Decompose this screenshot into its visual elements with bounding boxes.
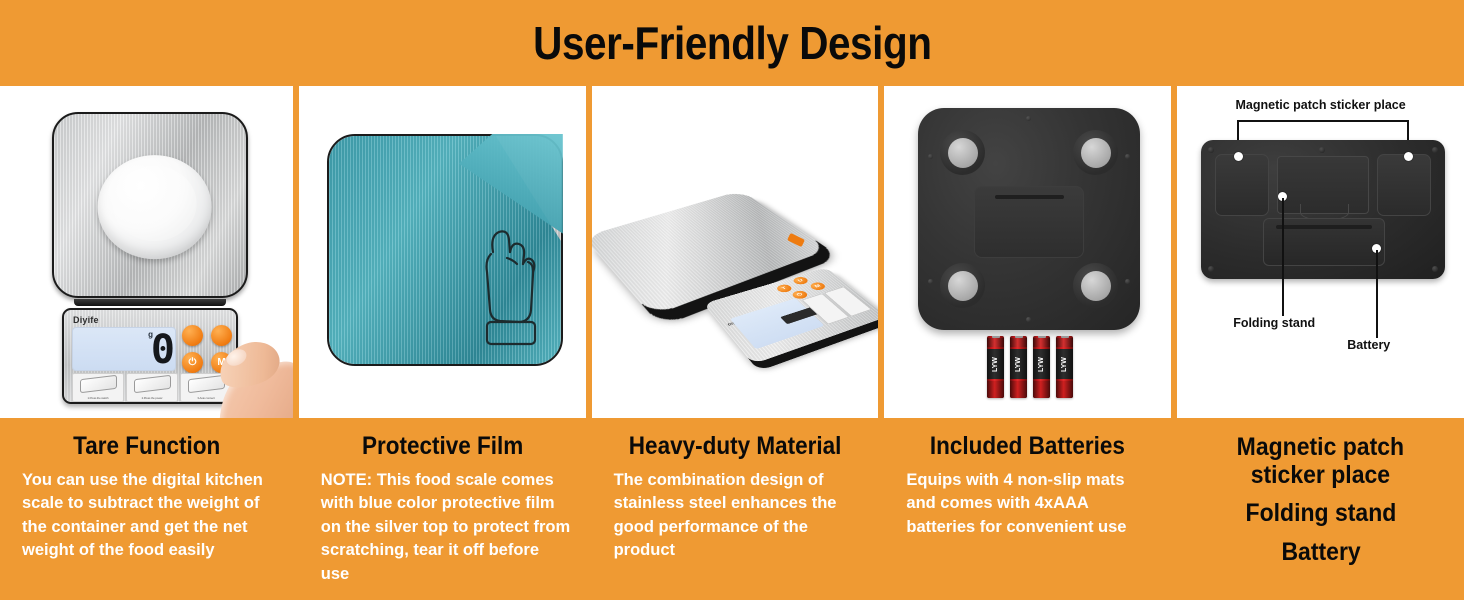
scale-perspective-image: Diyife T U ⏻ M [592,86,879,418]
battery-brand-label: LYW [1033,352,1050,378]
caption-body: NOTE: This food scale comes with blue co… [313,469,572,586]
step-image-3 [188,374,225,393]
unit-button[interactable]: U [791,276,810,286]
lcd-screen: g 0 [72,327,176,371]
mode-button[interactable]: M [211,352,232,373]
media-heavy-duty-material: Diyife T U ⏻ M [592,86,879,418]
battery-brand-label: LYW [987,352,1004,378]
caption-title: Included Batteries [930,432,1125,461]
peeling-hand-icon [477,222,541,348]
screw-2 [1432,147,1438,153]
caption-heading-1: Magnetic patch sticker place [1202,434,1440,489]
scale-underside-image [918,108,1140,330]
non-slip-mat-3 [940,263,985,308]
tare-button[interactable] [182,325,203,346]
feature-column-protective-film: Protective Film NOTE: This food scale co… [293,86,586,600]
feature-column-magnetic-patch: Magnetic patch sticker place [1171,86,1464,600]
caption-magnetic-patch: Magnetic patch sticker place Folding sta… [1177,418,1464,600]
folding-stand-area [1277,156,1369,214]
media-magnetic-patch: Magnetic patch sticker place [1177,86,1464,418]
caption-body: The combination design of stainless stee… [606,469,865,563]
white-bowl-icon [98,155,212,259]
battery-cell-1: LYW [987,336,1004,398]
header-banner: User-Friendly Design [0,0,1464,86]
leader-line-folding-stand [1282,198,1284,316]
screw-4 [1432,266,1438,272]
step-caption-1: 1.Press the switch [73,396,123,400]
step-caption-2: 2.Press the power [127,396,177,400]
instruction-steps: 1.Press the switch 2.Press the power 3.A… [72,373,232,402]
non-slip-mat-2 [1073,130,1118,175]
step-thumbnail-1: 1.Press the switch [72,373,124,402]
magnetic-patch-area-left [1215,154,1269,216]
caption-heading-3: Battery [1281,539,1360,567]
lcd-value: 0 [151,331,173,369]
screw-6 [1026,317,1031,322]
infographic-page: User-Friendly Design Diyife g 0 [0,0,1464,600]
step-thumbnail-3: 3.Auto connect [180,373,232,402]
battery-top-band [987,338,1004,347]
leader-line-battery [1376,250,1378,338]
screw-5 [1319,147,1325,153]
caption-title: Tare Function [73,432,220,461]
battery-cell-4: LYW [1056,336,1073,398]
step-image-1 [80,374,117,393]
caption-protective-film: Protective Film NOTE: This food scale co… [299,418,586,600]
scale-display-unit: Diyife g 0 ⏻ M 1.Press the [62,308,238,404]
caption-title: Protective Film [362,432,523,461]
screw-1 [928,154,933,159]
page-title: User-Friendly Design [533,16,931,70]
battery-bottom-band [1056,381,1073,398]
screw-1 [1208,147,1214,153]
scale-platform-image [52,112,248,298]
tare-button[interactable]: T [774,283,793,293]
caption-heading-2: Folding stand [1245,500,1396,528]
caption-tare-function: Tare Function You can use the digital ki… [0,418,293,600]
brand-label: Diyife [73,315,99,325]
callout-label-folding-stand: Folding stand [1233,316,1315,330]
screw-2 [1125,154,1130,159]
screw-3 [928,279,933,284]
platform-shadow-bar [74,299,226,306]
button-pad: ⏻ M [180,325,238,377]
battery-bottom-band [1010,381,1027,398]
step-thumbnail-2: 2.Press the power [126,373,178,402]
step-caption-3: 3.Auto connect [181,396,231,400]
battery-top-band [1056,338,1073,347]
non-slip-mat-1 [940,130,985,175]
aaa-batteries-group: LYW LYW LYW [980,336,1080,404]
screw-3 [1208,266,1214,272]
screw-5 [1026,116,1031,121]
protective-film-image [327,134,563,366]
feature-column-heavy-duty-material: Diyife T U ⏻ M [586,86,879,600]
callout-label-magnetic-patch: Magnetic patch sticker place [1235,98,1405,112]
battery-cell-3: LYW [1033,336,1050,398]
feature-column-included-batteries: LYW LYW LYW [878,86,1171,600]
caption-body: You can use the digital kitchen scale to… [14,469,279,563]
screw-4 [1125,279,1130,284]
battery-cell-2: LYW [1010,336,1027,398]
caption-body: Equips with 4 non-slip mats and comes wi… [898,469,1157,539]
mode-button[interactable]: M [808,281,827,291]
leader-line-top-bracket [1237,120,1409,122]
battery-brand-label: LYW [1056,352,1073,378]
unit-button[interactable] [211,325,232,346]
power-button[interactable]: ⏻ [182,352,203,373]
battery-compartment-door [974,186,1084,258]
feature-column-tare-function: Diyife g 0 ⏻ M 1.Press the [0,86,293,600]
battery-bottom-band [1033,381,1050,398]
caption-heading-stack: Magnetic patch sticker place Folding sta… [1191,432,1450,566]
caption-heavy-duty-material: Heavy-duty Material The combination desi… [592,418,879,600]
battery-brand-label: LYW [1010,352,1027,378]
non-slip-mat-4 [1073,263,1118,308]
media-included-batteries: LYW LYW LYW [884,86,1171,418]
caption-included-batteries: Included Batteries Equips with 4 non-sli… [884,418,1171,600]
callout-label-battery: Battery [1347,338,1390,352]
battery-top-band [1010,338,1027,347]
annotated-back-diagram: Magnetic patch sticker place [1177,86,1464,418]
media-tare-function: Diyife g 0 ⏻ M 1.Press the [0,86,293,418]
caption-title: Heavy-duty Material [629,432,842,461]
battery-top-band [1033,338,1050,347]
battery-bottom-band [987,381,1004,398]
feature-columns: Diyife g 0 ⏻ M 1.Press the [0,86,1464,600]
step-image-2 [134,374,171,393]
media-protective-film [299,86,586,418]
magnetic-patch-area-right [1377,154,1431,216]
